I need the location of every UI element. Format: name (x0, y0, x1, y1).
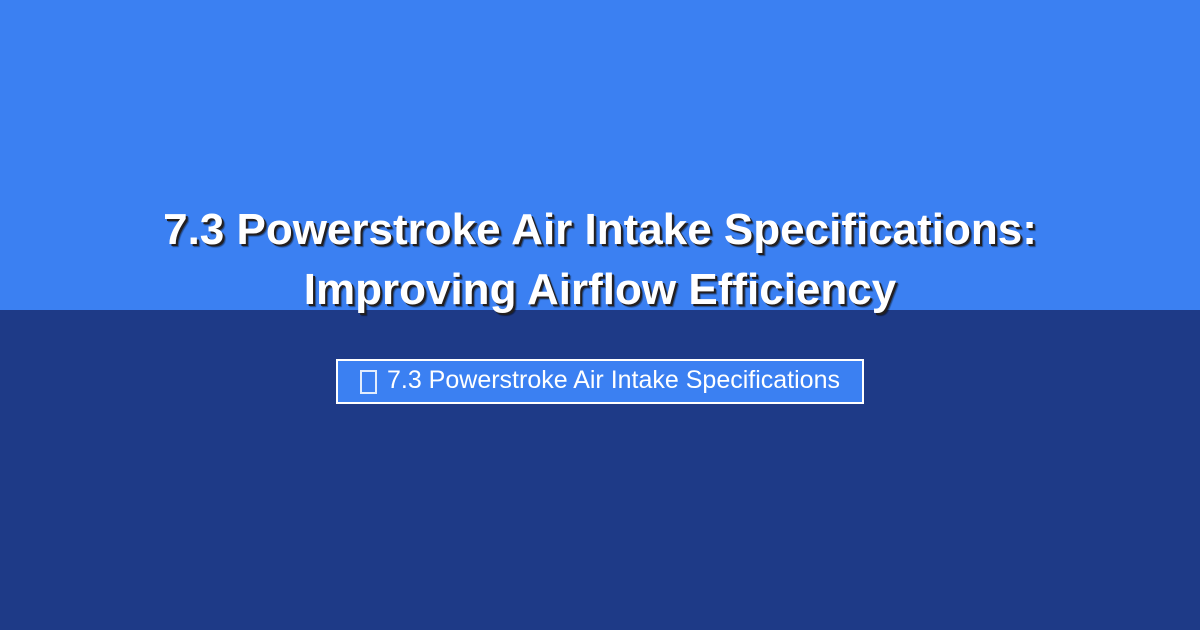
background-band-bottom (0, 310, 1200, 630)
social-share-card: 7.3 Powerstroke Air Intake Specification… (0, 0, 1200, 630)
badge-container: 7.3 Powerstroke Air Intake Specification… (0, 359, 1200, 404)
missing-glyph-box-icon (360, 370, 377, 394)
page-title: 7.3 Powerstroke Air Intake Specification… (0, 200, 1200, 320)
topic-badge-label: 7.3 Powerstroke Air Intake Specification… (387, 368, 840, 393)
topic-badge[interactable]: 7.3 Powerstroke Air Intake Specification… (336, 359, 864, 404)
